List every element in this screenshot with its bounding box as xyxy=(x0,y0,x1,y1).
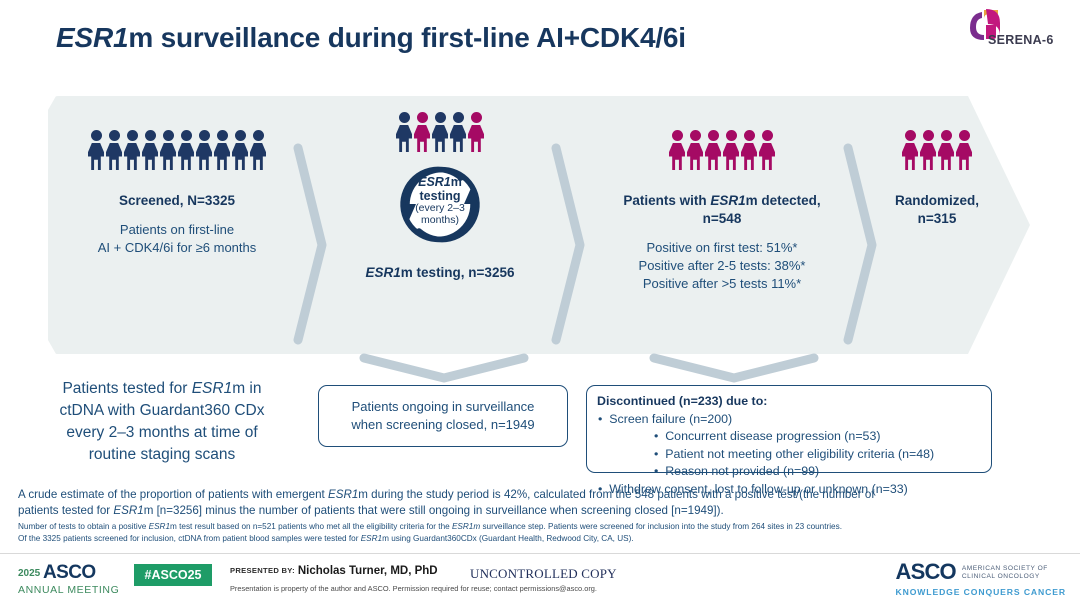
esr1m-testing-cycle: ESR1m testing (every 2–3 months) xyxy=(392,158,488,250)
discontinued-item-text: Concurrent disease progression (n=53) xyxy=(665,429,880,443)
discontinued-item: • Patient not meeting other eligibility … xyxy=(597,446,981,464)
fn-main-l1-i: ESR1 xyxy=(328,488,358,501)
discontinued-item: • Screen failure (n=200) xyxy=(597,411,981,429)
discontinued-item-text: Reason not provided (n=99) xyxy=(665,464,819,478)
stage-detected-sub-line-3: Positive after >5 tests 11%* xyxy=(588,275,856,293)
fn-s1-a: Number of tests to obtain a positive xyxy=(18,522,149,531)
hashtag-badge: #ASCO25 xyxy=(134,564,212,586)
person-icon xyxy=(160,130,176,170)
asco-wordmark: ASCO xyxy=(895,561,955,583)
stage-randomized-headline-line2: n=315 xyxy=(866,210,1008,228)
footnote-main-line-2: patients tested for ESR1m [n=3256] minus… xyxy=(18,503,1066,519)
asco-society-subtext: AMERICAN SOCIETY OF CLINICAL ONCOLOGY xyxy=(962,561,1048,582)
footnote-small-2: Of the 3325 patients screened for inclus… xyxy=(18,533,1066,545)
title-italic-gene: ESR1 xyxy=(56,22,128,53)
stage-testing-headline-rest: m testing, n=3256 xyxy=(401,265,515,280)
left-note-line-1: Patients tested for ESR1m in xyxy=(22,378,302,400)
fn-s2-i: ESR1 xyxy=(361,534,382,543)
person-icon xyxy=(214,130,230,170)
person-icon xyxy=(450,112,466,152)
presenter-name: Nicholas Turner, MD, PhD xyxy=(298,565,438,577)
stage-screened-sub-line-1: Patients on first-line xyxy=(70,221,284,239)
title-rest: m surveillance during first-line AI+CDK4… xyxy=(128,22,686,53)
fn-s1-c: surveillance step. Patients were screene… xyxy=(480,522,842,531)
presented-by: PRESENTED BY: Nicholas Turner, MD, PhD xyxy=(230,565,438,577)
discontinued-item: • Concurrent disease progression (n=53) xyxy=(597,428,981,446)
asco-annual-meeting-logo: 2025 ASCO ANNUAL MEETING xyxy=(18,563,119,596)
person-icon xyxy=(250,130,266,170)
person-icon xyxy=(741,130,757,170)
cycle-line-1: ESR1m xyxy=(392,175,488,189)
footer-divider xyxy=(0,553,1080,554)
stage-detected-subtext: Positive on first test: 51%* Positive af… xyxy=(588,239,856,293)
person-icon xyxy=(920,130,936,170)
fn-s1-b: m test result based on n=521 patients wh… xyxy=(170,522,452,531)
down-connector-chevron-right xyxy=(648,352,820,384)
stage-screened: Screened, N=3325 Patients on first-line … xyxy=(70,130,284,257)
left-note-line-1-pre: Patients tested for xyxy=(62,380,191,397)
fn-main-l2-b: m [n=3256] minus the number of patients … xyxy=(144,504,724,517)
left-note-line-1-italic: ESR1 xyxy=(192,380,233,397)
footnote-main: A crude estimate of the proportion of pa… xyxy=(18,487,1066,519)
person-icon xyxy=(414,112,430,152)
person-icon xyxy=(196,130,212,170)
callout-discontinued: Discontinued (n=233) due to: • Screen fa… xyxy=(586,385,992,473)
stage-separator-chevron-1 xyxy=(292,140,332,350)
stage-detected-headline-pre: Patients with xyxy=(623,193,710,208)
left-note-line-1-post: m in xyxy=(232,380,261,397)
fn-main-l1-b: m during the study period is 42%, calcul… xyxy=(358,488,874,501)
person-icon xyxy=(902,130,918,170)
fn-s2-a: Of the 3325 patients screened for inclus… xyxy=(18,534,361,543)
stage-randomized-people-icons xyxy=(866,130,1008,170)
stage-screened-sub-line-2: AI + CDK4/6i for ≥6 months xyxy=(70,239,284,257)
presented-by-label: PRESENTED BY: xyxy=(230,566,295,575)
asco-sub-line-2: CLINICAL ONCOLOGY xyxy=(962,573,1048,581)
asco-tagline: KNOWLEDGE CONQUERS CANCER xyxy=(895,587,1066,597)
stage-screened-headline: Screened, N=3325 xyxy=(70,192,284,210)
serena-6-logo: SERENA-6 xyxy=(962,6,1066,54)
stage-randomized-headline-line1: Randomized, xyxy=(866,192,1008,210)
fn-main-l2-a: patients tested for xyxy=(18,504,113,517)
person-icon xyxy=(759,130,775,170)
discontinued-item: • Reason not provided (n=99) xyxy=(597,463,981,481)
fn-s2-b: m using Guardant360CDx (Guardant Health,… xyxy=(382,534,634,543)
cycle-line-1-italic: ESR1 xyxy=(418,175,451,189)
stage-detected-sub-line-1: Positive on first test: 51%* xyxy=(588,239,856,257)
stage-detected-headline: Patients with ESR1m detected, n=548 xyxy=(588,192,856,228)
ongoing-box-text: Patients ongoing in surveillance when sc… xyxy=(351,398,534,434)
down-connector-chevron-left xyxy=(358,352,530,384)
person-icon xyxy=(124,130,140,170)
person-icon xyxy=(723,130,739,170)
person-icon xyxy=(956,130,972,170)
slide-root: ESR1m surveillance during first-line AI+… xyxy=(0,0,1080,607)
left-description-note: Patients tested for ESR1m in ctDNA with … xyxy=(22,378,302,466)
serena-6-label: SERENA-6 xyxy=(988,33,1054,47)
stage-esr1m-detected: Patients with ESR1m detected, n=548 Posi… xyxy=(588,130,856,292)
left-note-line-4: routine staging scans xyxy=(22,444,302,466)
person-icon xyxy=(432,112,448,152)
discontinued-item-text: Screen failure (n=200) xyxy=(609,412,732,426)
left-note-line-2: ctDNA with Guardant360 CDx xyxy=(22,400,302,422)
discontinued-item-text: Patient not meeting other eligibility cr… xyxy=(665,447,934,461)
stage-testing-headline-italic: ESR1 xyxy=(366,265,401,280)
stage-detected-sub-line-2: Positive after 2-5 tests: 38%* xyxy=(588,257,856,275)
asco-meeting-year: 2025 xyxy=(18,568,40,579)
stage-separator-chevron-2 xyxy=(550,140,590,350)
cycle-line-4: months) xyxy=(392,215,488,227)
discontinued-heading: Discontinued (n=233) due to: xyxy=(597,393,981,411)
person-icon xyxy=(705,130,721,170)
person-icon xyxy=(232,130,248,170)
fn-s1-i2: ESR1m xyxy=(452,522,480,531)
person-icon xyxy=(669,130,685,170)
person-icon xyxy=(142,130,158,170)
stage-detected-headline-italic: ESR1 xyxy=(710,193,745,208)
asco-sub-line-1: AMERICAN SOCIETY OF xyxy=(962,565,1048,573)
permission-notice: Presentation is property of the author a… xyxy=(230,584,597,593)
ongoing-box-line-2: when screening closed, n=1949 xyxy=(351,416,534,434)
uncontrolled-copy-watermark: UNCONTROLLED COPY xyxy=(470,566,617,582)
ongoing-box-line-1: Patients ongoing in surveillance xyxy=(351,398,534,416)
cycle-line-1-rest: m xyxy=(451,175,462,189)
stage-testing-people-icons xyxy=(340,112,540,152)
asco-meeting-line-1: 2025 ASCO xyxy=(18,563,119,582)
left-note-line-3: every 2–3 months at time of xyxy=(22,422,302,444)
person-icon xyxy=(178,130,194,170)
footnote-main-line-1: A crude estimate of the proportion of pa… xyxy=(18,487,1066,503)
stage-screened-people-icons xyxy=(70,130,284,170)
fn-s1-i1: ESR1 xyxy=(149,522,170,531)
asco-society-logo: ASCO AMERICAN SOCIETY OF CLINICAL ONCOLO… xyxy=(895,561,1066,597)
stage-esr1m-testing: ESR1m testing (every 2–3 months) ESR1m t… xyxy=(340,112,540,282)
person-icon xyxy=(106,130,122,170)
person-icon xyxy=(88,130,104,170)
fn-main-l1-a: A crude estimate of the proportion of pa… xyxy=(18,488,328,501)
page-title: ESR1m surveillance during first-line AI+… xyxy=(56,22,686,54)
person-icon xyxy=(396,112,412,152)
stage-randomized-headline: Randomized, n=315 xyxy=(866,192,1008,228)
stage-detected-people-icons xyxy=(588,130,856,170)
cycle-line-2: testing xyxy=(392,189,488,203)
stage-testing-headline: ESR1m testing, n=3256 xyxy=(340,264,540,282)
callout-ongoing-surveillance: Patients ongoing in surveillance when sc… xyxy=(318,385,568,447)
stage-randomized: Randomized, n=315 xyxy=(866,130,1008,228)
stage-detected-headline-line2: n=548 xyxy=(588,210,856,228)
asco-meeting-brand: ASCO xyxy=(43,562,96,583)
person-icon xyxy=(938,130,954,170)
asco-meeting-sub: ANNUAL MEETING xyxy=(18,584,119,596)
footnote-small-1: Number of tests to obtain a positive ESR… xyxy=(18,521,1066,533)
cycle-line-3: (every 2–3 xyxy=(392,203,488,215)
person-icon xyxy=(687,130,703,170)
fn-main-l2-i: ESR1 xyxy=(113,504,143,517)
asco-logo-row: ASCO AMERICAN SOCIETY OF CLINICAL ONCOLO… xyxy=(895,561,1066,583)
stage-detected-headline-post: m detected, xyxy=(746,193,821,208)
person-icon xyxy=(468,112,484,152)
stage-screened-subtext: Patients on first-line AI + CDK4/6i for … xyxy=(70,221,284,257)
cycle-label-group: ESR1m testing (every 2–3 months) xyxy=(392,175,488,226)
